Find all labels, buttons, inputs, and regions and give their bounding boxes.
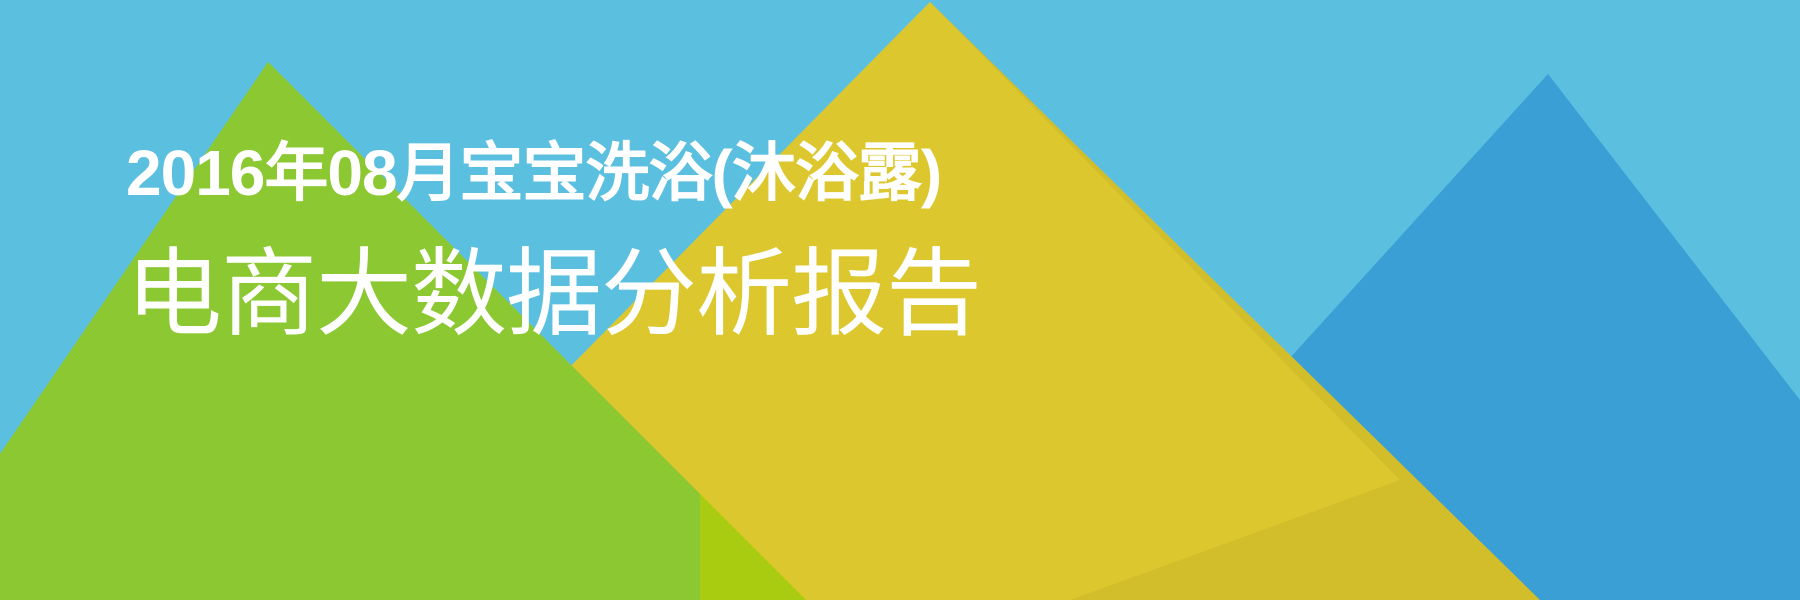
background-illustration <box>0 0 1800 600</box>
cover-slide: 2016年08月宝宝洗浴(沐浴露) 电商大数据分析报告 <box>0 0 1800 600</box>
